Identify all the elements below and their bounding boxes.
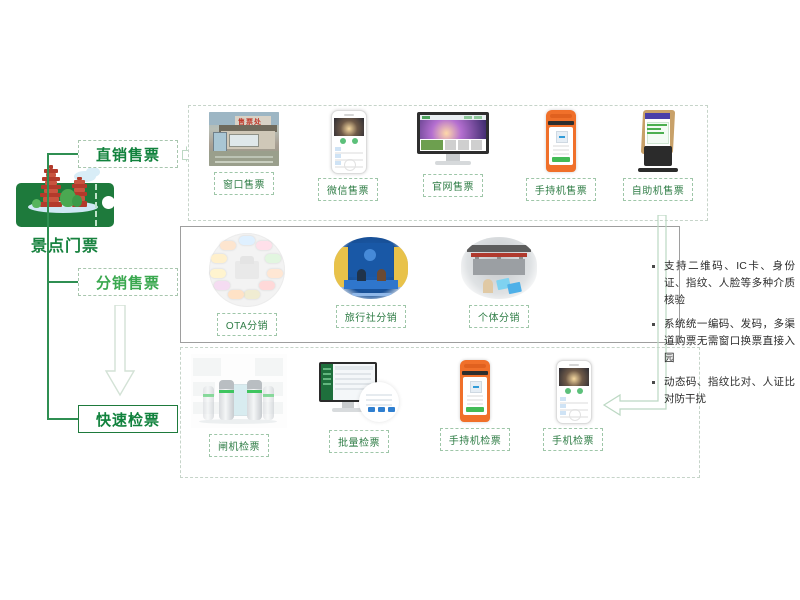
channel-caption: 窗口售票: [214, 172, 274, 195]
feature-notes: 支持二维码、IC卡、身份证、指纹、人脸等多种介质核验 系统统一编码、发码，多渠道…: [650, 258, 795, 415]
note-item: 系统统一编码、发码，多渠道购票无需窗口换票直接入园: [650, 316, 795, 367]
channel-caption: 手持机售票: [526, 178, 597, 201]
diagram-canvas: 景点门票 直销售票 分销售票 快速检票 售票处: [0, 0, 800, 600]
channel-card-website[interactable]: 官网售票: [401, 112, 505, 197]
channel-card-individual[interactable]: 个体分销: [449, 237, 549, 328]
source-node: 景点门票: [10, 165, 120, 256]
turnstile-gate-icon: [191, 354, 287, 428]
smartphone-wechat-icon: [331, 110, 365, 172]
channel-card-window[interactable]: 售票处 窗口售票: [197, 112, 291, 195]
channel-card-handheld-check[interactable]: 手持机检票: [425, 360, 525, 451]
desktop-batch-check-icon: [319, 362, 399, 424]
channel-caption: OTA分销: [217, 313, 277, 336]
channel-card-batch[interactable]: 批量检票: [307, 362, 411, 453]
channel-caption: 官网售票: [423, 174, 483, 197]
tree-trunk-line: [47, 154, 49, 419]
row-direct-sales: 售票处 窗口售票: [188, 105, 708, 221]
channel-caption: 批量检票: [329, 430, 389, 453]
channel-card-kiosk[interactable]: 自助机售票: [609, 110, 707, 201]
scenic-ticket-icon: [16, 165, 114, 227]
channel-caption: 自助机售票: [623, 178, 694, 201]
channel-card-ota[interactable]: OTA分销: [195, 233, 299, 336]
channel-caption: 闸机检票: [209, 434, 269, 457]
self-service-kiosk-icon: [636, 110, 680, 172]
desktop-monitor-website-icon: [417, 112, 489, 168]
ota-logo-wheel-icon: [209, 233, 285, 307]
channel-caption: 旅行社分销: [336, 305, 407, 328]
channel-card-turnstile[interactable]: 闸机检票: [185, 354, 293, 457]
channel-caption: 手持机检票: [440, 428, 511, 451]
channel-card-travel-agency[interactable]: 旅行社分销: [321, 237, 421, 328]
note-item: 支持二维码、IC卡、身份证、指纹、人脸等多种介质核验: [650, 258, 795, 309]
stage-label-text: 快速检票: [96, 409, 160, 430]
channel-caption: 手机检票: [543, 428, 603, 451]
branch-line-direct: [47, 153, 79, 155]
individual-agent-shop-icon: [461, 237, 537, 299]
stage-label-distribution-sales[interactable]: 分销售票: [78, 268, 178, 296]
source-label: 景点门票: [10, 232, 120, 256]
channel-caption: 微信售票: [318, 178, 378, 201]
channel-caption: 个体分销: [469, 305, 529, 328]
smartphone-check-icon: [556, 360, 590, 422]
branch-line-checking: [47, 418, 79, 420]
ticket-booth-photo-icon: 售票处: [209, 112, 279, 166]
branch-line-distribution: [47, 281, 79, 283]
stage-label-text: 直销售票: [96, 144, 160, 165]
arrow-down-icon-flow: [104, 305, 136, 397]
channel-card-wechat[interactable]: 微信售票: [301, 110, 395, 201]
stage-label-direct-sales[interactable]: 直销售票: [78, 140, 178, 168]
travel-agency-counter-icon: [334, 237, 408, 299]
note-item: 动态码、指纹比对、人证比对防干扰: [650, 374, 795, 408]
stage-label-text: 分销售票: [96, 272, 160, 293]
channel-card-handheld[interactable]: 手持机售票: [511, 110, 611, 201]
handheld-pos-terminal-icon: [546, 110, 576, 172]
stage-label-fast-checking[interactable]: 快速检票: [78, 405, 178, 433]
handheld-pos-terminal-icon: [460, 360, 490, 422]
